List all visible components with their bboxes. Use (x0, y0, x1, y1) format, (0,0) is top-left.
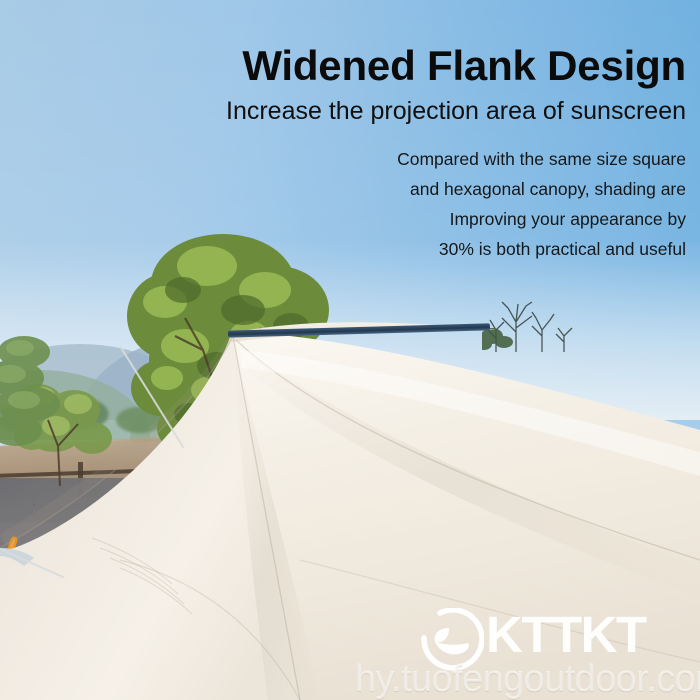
body-line: Compared with the same size square (346, 144, 686, 174)
brand-watermark: KTTKT hy.tuofengoutdoor.com (418, 604, 693, 696)
body-paragraph: Compared with the same size square and h… (346, 144, 686, 264)
body-line: and hexagonal canopy, shading are (346, 174, 686, 204)
page-title: Widened Flank Design (0, 44, 686, 88)
promo-poster: Widened Flank Design Increase the projec… (0, 0, 700, 700)
page-subtitle: Increase the projection area of sunscree… (0, 96, 686, 126)
body-line: Improving your appearance by (346, 204, 686, 234)
body-line: 30% is both practical and useful (346, 234, 686, 264)
brand-url: hy.tuofengoutdoor.com (355, 656, 700, 700)
